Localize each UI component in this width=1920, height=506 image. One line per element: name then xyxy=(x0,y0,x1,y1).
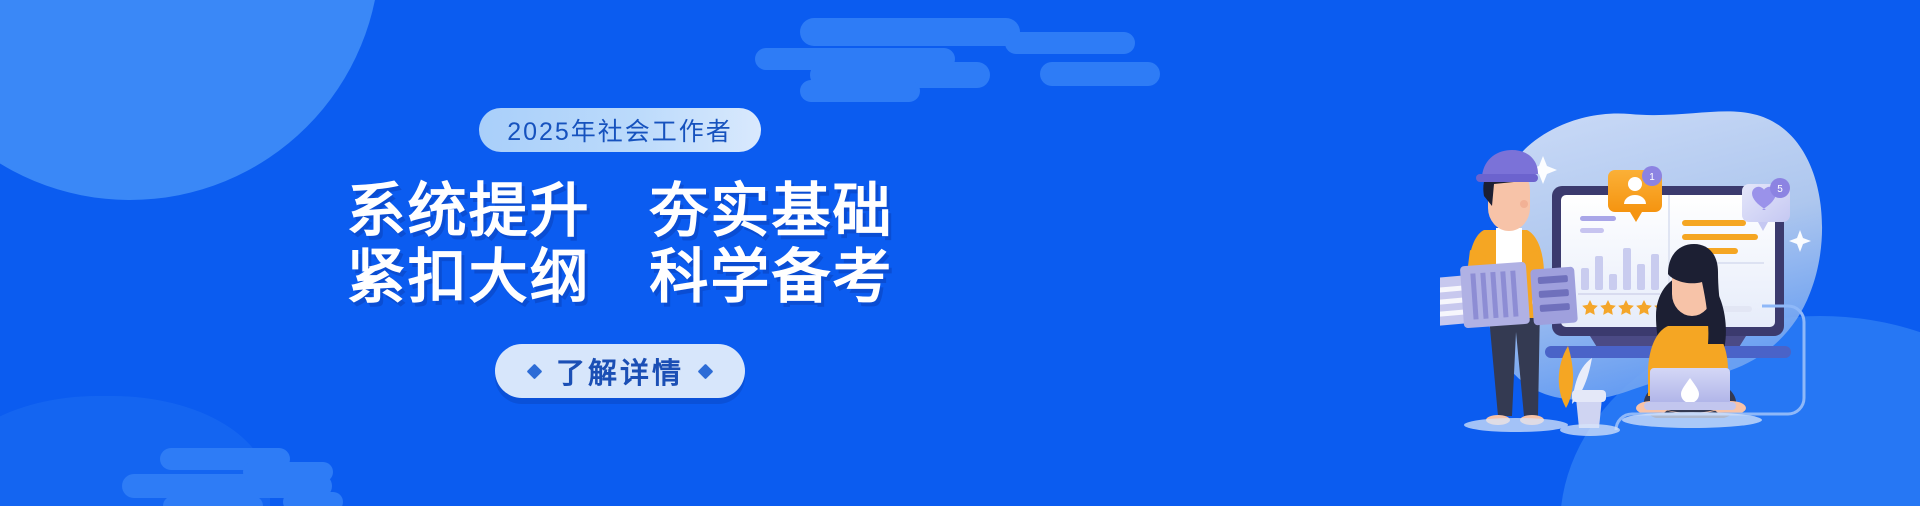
learn-more-button[interactable]: 了解详情 xyxy=(495,344,745,398)
headline-line-1-part-b: 夯实基础 xyxy=(649,178,893,244)
headline-line-2-part-a: 紧扣大纲 xyxy=(347,244,591,310)
learn-more-button-label: 了解详情 xyxy=(556,350,684,392)
document-panel xyxy=(1440,262,1578,328)
subtitle-badge: 2025年社会工作者 xyxy=(479,108,761,152)
diamond-left-icon xyxy=(527,363,543,379)
diamond-right-icon xyxy=(698,363,714,379)
promo-banner: 2025年社会工作者 系统提升 夯实基础 紧扣大纲 科学备考 了解详情 xyxy=(0,0,1920,506)
notification-user-count: 1 xyxy=(1649,172,1655,183)
notification-like-count: 5 xyxy=(1777,184,1783,195)
headline-line-2: 紧扣大纲 科学备考 xyxy=(347,244,894,310)
banner-content: 2025年社会工作者 系统提升 夯实基础 紧扣大纲 科学备考 了解详情 xyxy=(0,0,1240,506)
hero-illustration: 1 5 xyxy=(1440,78,1840,458)
headline-line-1-part-a: 系统提升 xyxy=(347,178,591,244)
headline-line-2-part-b: 科学备考 xyxy=(649,244,893,310)
headline-line-1: 系统提升 夯实基础 xyxy=(347,178,894,244)
subtitle-badge-label: 2025年社会工作者 xyxy=(507,112,733,148)
